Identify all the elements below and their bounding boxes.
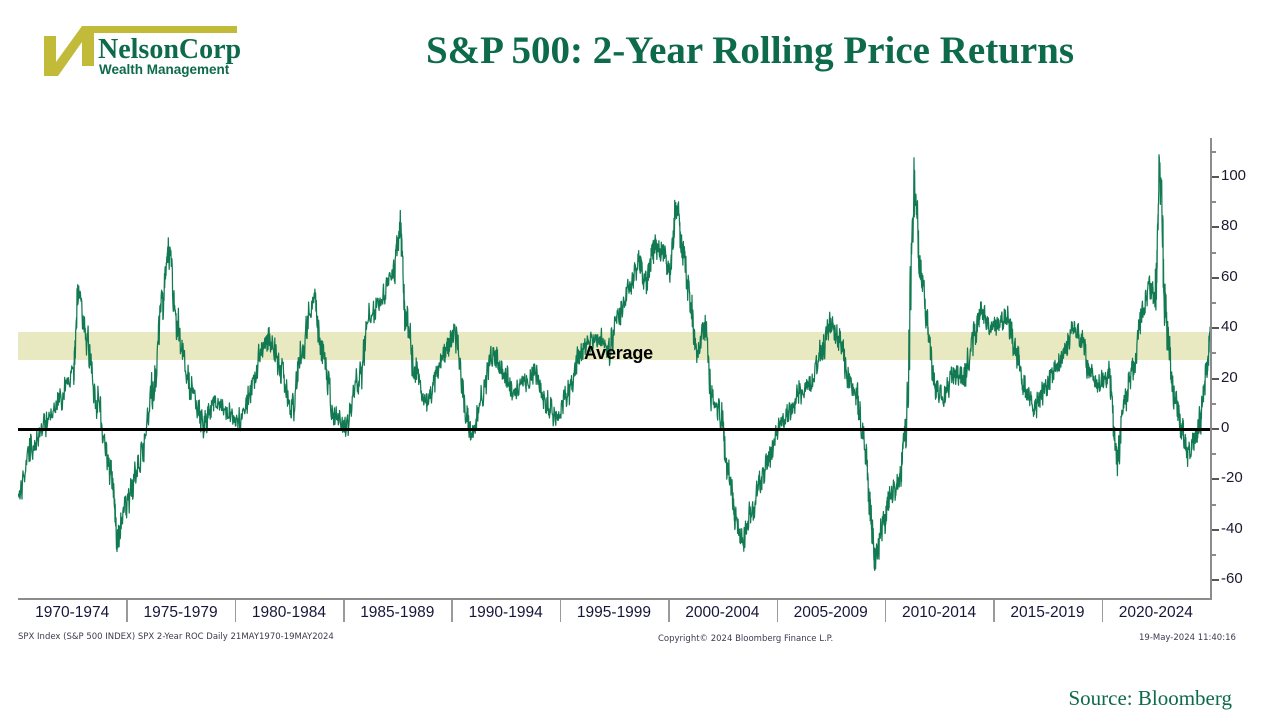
bloomberg-timestamp: 19-May-2024 11:40:16 <box>1139 633 1236 643</box>
x-axis-tick-label: 2015-2019 <box>993 604 1101 622</box>
bloomberg-series-description: SPX Index (S&P 500 INDEX) SPX 2-Year ROC… <box>18 632 334 642</box>
logo-svg: NelsonCorp Wealth Management <box>42 22 257 84</box>
y-axis-minor-tick <box>1212 302 1216 304</box>
series-line-chart <box>18 138 1210 613</box>
y-axis-tick <box>1212 277 1219 279</box>
y-axis-tick-label: 100 <box>1221 168 1246 183</box>
y-axis-minor-tick <box>1212 352 1216 354</box>
x-axis-tick-label: 2020-2024 <box>1102 604 1210 622</box>
y-axis-tick <box>1212 226 1219 228</box>
logo-tagline-text: Wealth Management <box>99 62 230 77</box>
x-axis: 1970-19741975-19791980-19841985-19891990… <box>18 598 1210 636</box>
y-axis-tick-label: 20 <box>1221 370 1238 385</box>
chart-plot-area: Average <box>18 138 1210 613</box>
y-axis-tick <box>1212 176 1219 178</box>
zero-reference-line <box>18 428 1210 431</box>
y-axis-tick <box>1212 327 1219 329</box>
logo-n-mark <box>44 26 94 76</box>
y-axis-minor-tick <box>1212 504 1216 506</box>
x-axis-spine <box>18 598 1210 600</box>
x-axis-tick-label: 1975-1979 <box>126 604 234 622</box>
x-axis-tick-label: 2010-2014 <box>885 604 993 622</box>
logo-top-bar <box>82 26 237 33</box>
y-axis-tick <box>1212 529 1219 531</box>
source-note: Source: Bloomberg <box>1068 686 1232 711</box>
plot-canvas: Average <box>18 138 1208 613</box>
y-axis-tick <box>1212 428 1219 430</box>
y-axis-minor-tick <box>1212 403 1216 405</box>
logo-brand-text: NelsonCorp <box>98 34 241 65</box>
average-band-label: Average <box>584 343 653 364</box>
y-axis-minor-tick <box>1212 201 1216 203</box>
header: NelsonCorp Wealth Management S&P 500: 2-… <box>0 0 1280 110</box>
y-axis-tick <box>1212 579 1219 581</box>
y-axis-tick-label: 60 <box>1221 269 1238 284</box>
y-axis-tick-label: 40 <box>1221 319 1238 334</box>
y-axis-tick-label: 0 <box>1221 420 1229 435</box>
y-axis-tick <box>1212 478 1219 480</box>
y-axis-tick-label: 80 <box>1221 218 1238 233</box>
nelsoncorp-logo: NelsonCorp Wealth Management <box>42 22 257 84</box>
y-axis-minor-tick <box>1212 554 1216 556</box>
y-axis-minor-tick <box>1212 453 1216 455</box>
y-axis-tick-label: -60 <box>1221 571 1243 586</box>
x-axis-tick-label: 1970-1974 <box>18 604 126 622</box>
x-axis-tick-label: 1985-1989 <box>343 604 451 622</box>
bloomberg-copyright: Copyright© 2024 Bloomberg Finance L.P. <box>658 634 833 644</box>
y-axis-minor-tick <box>1212 252 1216 254</box>
y-axis-tick-label: -40 <box>1221 521 1243 536</box>
y-axis-tick-label: -20 <box>1221 470 1243 485</box>
x-axis-tick-label: 1990-1994 <box>451 604 559 622</box>
page-title: S&P 500: 2-Year Rolling Price Returns <box>300 28 1200 73</box>
y-axis-tick <box>1212 378 1219 380</box>
x-axis-tick-label: 1980-1984 <box>235 604 343 622</box>
y-axis: 100806040200-20-40-60 <box>1210 138 1280 618</box>
x-axis-tick-label: 2000-2004 <box>668 604 776 622</box>
x-axis-tick-label: 1995-1999 <box>560 604 668 622</box>
y-axis-minor-tick <box>1212 151 1216 153</box>
x-axis-tick-label: 2005-2009 <box>777 604 885 622</box>
